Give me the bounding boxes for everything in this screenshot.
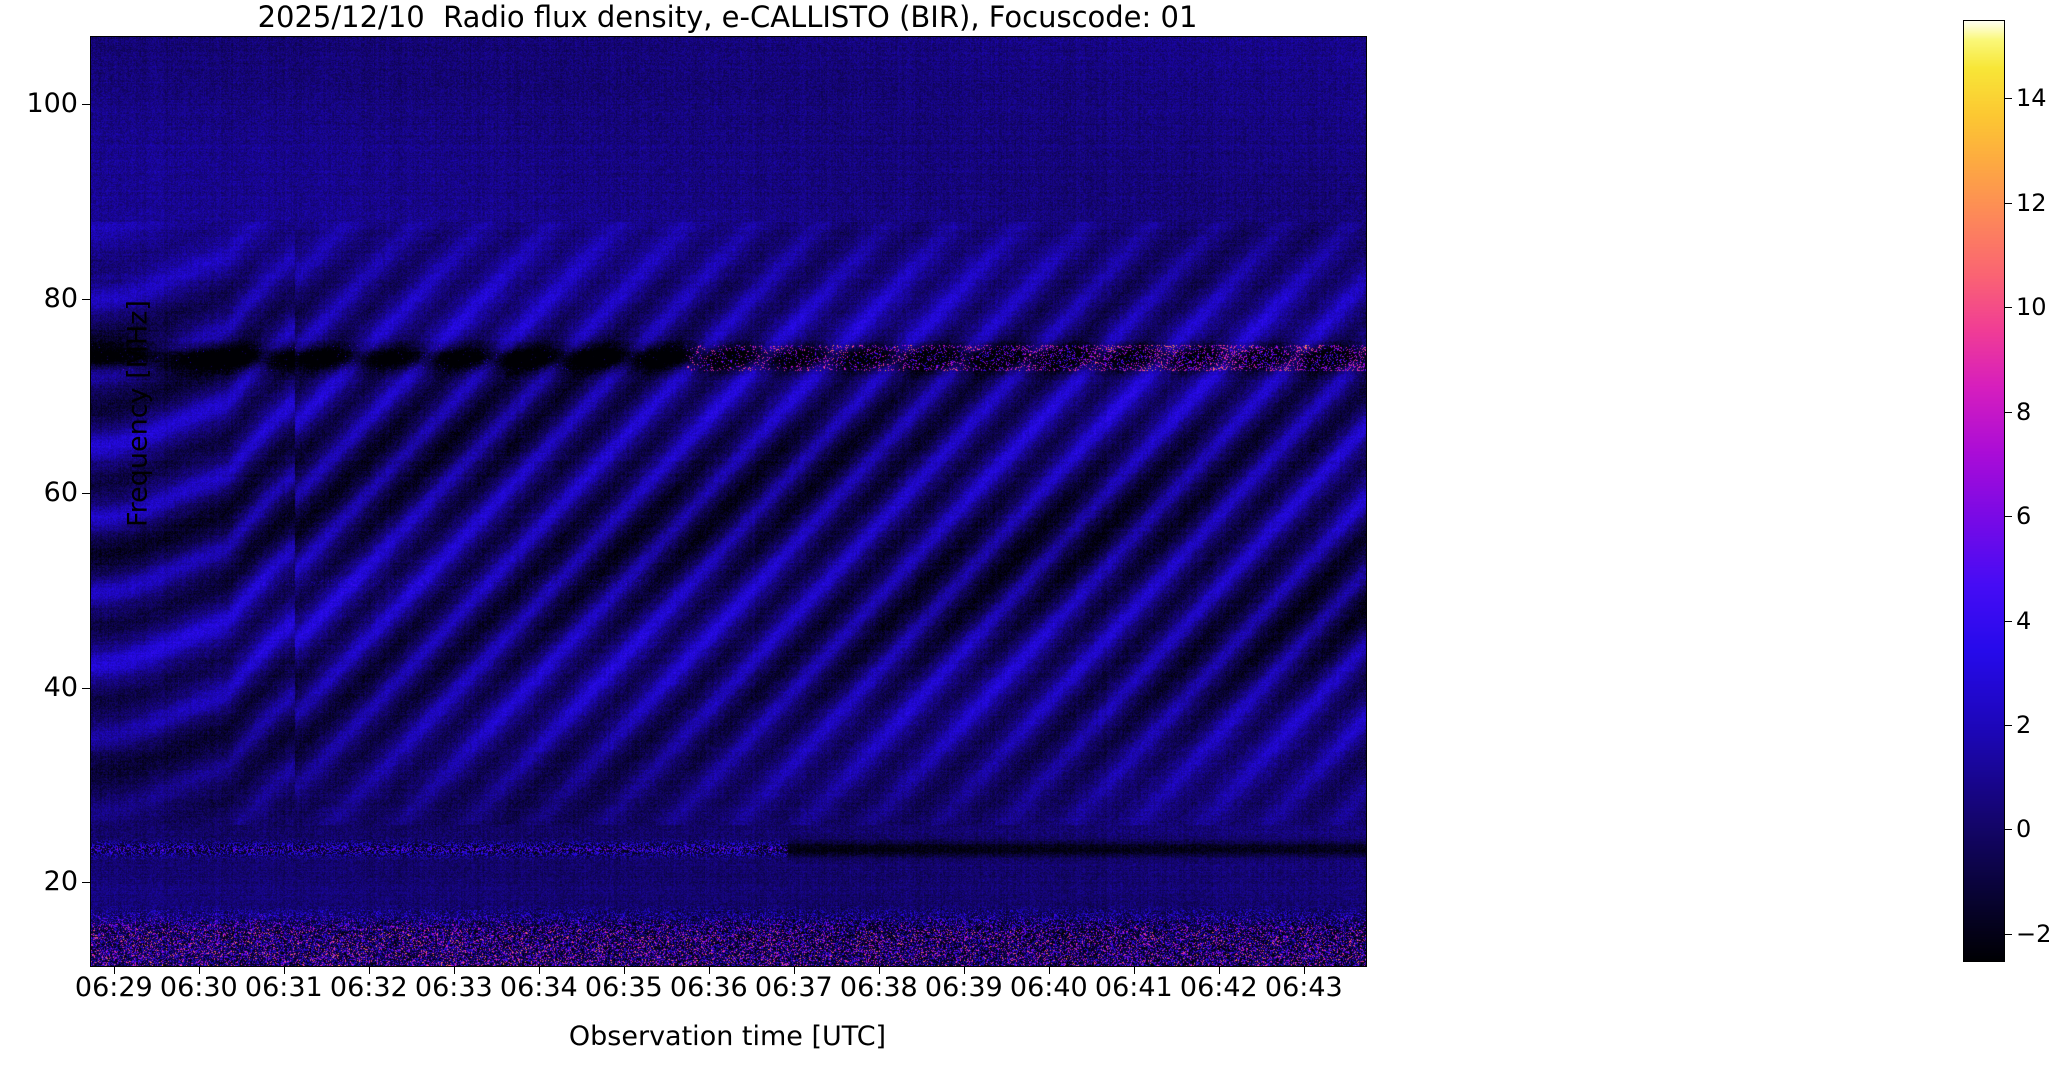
y-axis-label: Frequency [MHz] [123,264,154,564]
colorbar-tick-mark [2004,412,2012,413]
colorbar-tick-mark [2004,725,2012,726]
colorbar-gradient [1964,21,2004,961]
spectrogram-image [91,37,1366,966]
y-tick-label: 20 [0,866,78,897]
colorbar-tick-mark [2004,621,2012,622]
colorbar-tick-label: 10 [2016,293,2066,321]
colorbar-tick-label: 14 [2016,84,2066,112]
colorbar-tick-mark [2004,203,2012,204]
colorbar[interactable] [1963,20,2005,962]
y-tick-mark [82,104,90,105]
colorbar-tick-label: 4 [2016,607,2066,635]
colorbar-tick-mark [2004,829,2012,830]
y-tick-label: 40 [0,672,78,703]
colorbar-tick-label: 12 [2016,189,2066,217]
colorbar-tick-label: 8 [2016,398,2066,426]
colorbar-tick-mark [2004,98,2012,99]
colorbar-tick-label: 0 [2016,815,2066,843]
figure-canvas: 2025/12/10 Radio flux density, e-CALLIST… [0,0,2066,1067]
colorbar-tick-label: 2 [2016,711,2066,739]
y-tick-label: 80 [0,283,78,314]
x-axis-label: Observation time [UTC] [90,1021,1365,1052]
page-title: 2025/12/10 Radio flux density, e-CALLIST… [90,0,1365,34]
colorbar-tick-label: −2 [2016,920,2066,948]
colorbar-tick-mark [2004,934,2012,935]
spectrogram-plot-area[interactable] [90,36,1367,967]
y-tick-label: 100 [0,88,78,119]
y-tick-mark [82,882,90,883]
x-tick-label: 06:43 [1224,972,1384,1003]
y-tick-mark [82,299,90,300]
y-tick-mark [82,493,90,494]
y-tick-label: 60 [0,477,78,508]
colorbar-tick-mark [2004,516,2012,517]
colorbar-tick-label: 6 [2016,502,2066,530]
y-tick-mark [82,688,90,689]
colorbar-tick-mark [2004,307,2012,308]
